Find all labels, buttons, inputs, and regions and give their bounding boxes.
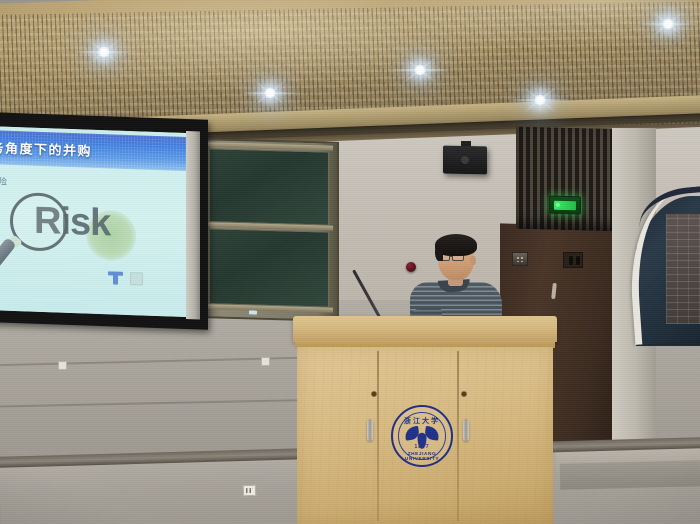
outlet-slots [246,488,253,493]
sliding-blackboard [203,138,339,322]
podium-top-surface [293,316,557,342]
switch-slot-right [576,256,580,265]
slide-logos [108,270,143,285]
eagle-wing-right [424,426,440,441]
brick-texture [666,214,700,324]
control-panel-buttons [516,256,524,262]
cabinet-door-seam-left [377,351,379,521]
emergency-exit-sign [549,196,581,215]
podium-cabinet: 浙江大学 1897 ZHEJIANG UNIVERSITY [297,347,553,524]
vertical-slat-wall [516,127,624,232]
emblem-year: 1897 [393,444,451,450]
eyeglasses-bridge [450,256,453,257]
projection-screen-surface: 财务角度下的并购 与风险 Risk [0,126,186,317]
stage-step-lower [560,460,700,489]
projection-screen: 财务角度下的并购 与风险 Risk [0,112,208,330]
emblem-english-name: ZHEJIANG UNIVERSITY [392,451,451,461]
door-switch-plate[interactable] [563,252,583,268]
cabinet-handle-right[interactable] [463,419,469,441]
speaker-cone [461,156,469,164]
curved-balcony-opening [636,196,700,346]
lectern-podium: 浙江大学 1897 ZHEJIANG UNIVERSITY [293,316,557,524]
slide-title: 财务角度下的并购 [0,137,92,160]
wall-control-panel[interactable] [512,252,528,266]
screen-side-edge [186,131,200,319]
presenter-ear [470,256,476,265]
blackboard-panel-bottom [209,228,329,307]
wall-outlet-left[interactable] [58,361,67,370]
zhejiang-university-emblem: 浙江大学 1897 ZHEJIANG UNIVERSITY [391,405,453,467]
slide-graphic: Risk [0,188,186,290]
exit-running-man-icon [554,200,576,210]
cabinet-lock-left[interactable] [371,391,377,397]
presentation-slide: 财务角度下的并购 与风险 Risk [0,126,186,317]
wall-outlet-right[interactable] [261,357,270,366]
switch-slot-left [569,256,573,265]
blackboard-panel-top [209,148,329,225]
lecture-hall-photo: 财务角度下的并购 与风险 Risk [0,0,700,524]
cabinet-lock-right[interactable] [461,391,467,397]
presenter-hair-side [435,244,443,261]
cabinet-door-seam-right [457,351,459,521]
microphone-head [406,262,416,272]
square-logo-icon [130,272,143,285]
chalk-piece[interactable] [249,310,257,314]
t-logo-icon [108,270,123,285]
slide-subtitle: 与风险 [0,174,8,188]
cabinet-handle-left[interactable] [367,419,373,441]
floor-power-outlet[interactable] [243,485,256,496]
magnifier-handle [0,237,17,271]
emblem-chinese-name: 浙江大学 [393,418,451,425]
wall-mounted-speaker [443,146,487,175]
